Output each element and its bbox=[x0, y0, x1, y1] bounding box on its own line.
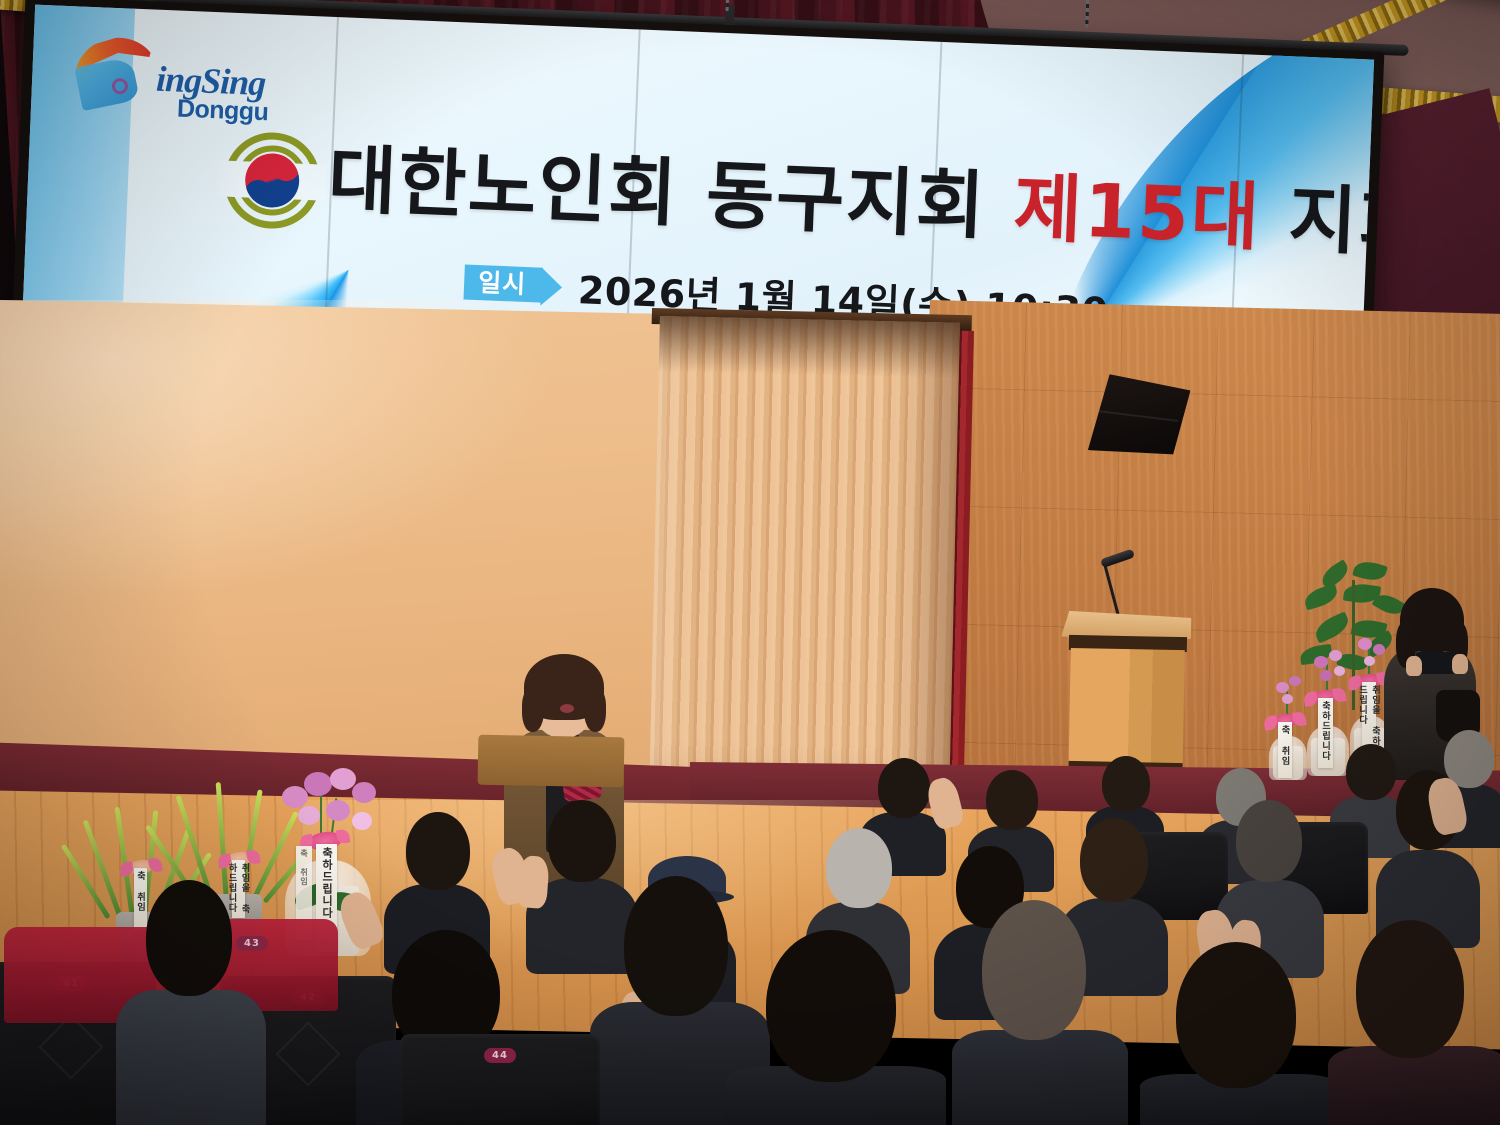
left-wall-highlight bbox=[0, 300, 560, 600]
donggu-city-logo: ingSing Donggu bbox=[66, 32, 300, 133]
city-logo-subtext: Donggu bbox=[176, 95, 269, 128]
date-label-chip: 일시 bbox=[463, 265, 542, 303]
wooden-lectern[interactable] bbox=[1064, 611, 1185, 773]
flower-ribbon-text: 축하드립니다 bbox=[319, 847, 335, 919]
seat-emboss-pattern bbox=[275, 1021, 340, 1086]
audience-member-front bbox=[1328, 920, 1500, 1125]
pleated-stage-curtain bbox=[649, 316, 960, 793]
audience-member-front bbox=[1140, 942, 1340, 1125]
korean-taegeuk-emblem-icon bbox=[222, 131, 322, 231]
audience-member-front bbox=[116, 880, 266, 1125]
lectern-body bbox=[1069, 648, 1185, 768]
auditorium-ceremony-photo: ingSing Donggu 대한노인회 동구지회 제15대 지회장 취임식 bbox=[0, 0, 1500, 1125]
speaker-mouth bbox=[560, 704, 574, 713]
speaker-seam bbox=[1098, 411, 1179, 423]
flower-ribbon-text-secondary: 축 취임 bbox=[299, 849, 310, 886]
clapping-hand bbox=[516, 855, 550, 909]
headline-part-red: 제15대 bbox=[1012, 165, 1262, 261]
stage-side-table bbox=[478, 735, 625, 788]
auditorium-seat-front[interactable]: 44 bbox=[400, 1034, 600, 1125]
seat-number-label: 44 bbox=[484, 1048, 516, 1063]
audience-member-front bbox=[726, 930, 946, 1125]
flower-ribbon-text: 축 취임 bbox=[1279, 725, 1292, 766]
headline-part-2: 지회장 bbox=[1259, 175, 1374, 272]
seat-emboss-pattern bbox=[38, 1015, 103, 1080]
curtain-top-shadow bbox=[659, 316, 960, 379]
headline-part-1: 대한노인회 동구지회 bbox=[327, 137, 1016, 251]
audience-member-front bbox=[952, 900, 1128, 1125]
